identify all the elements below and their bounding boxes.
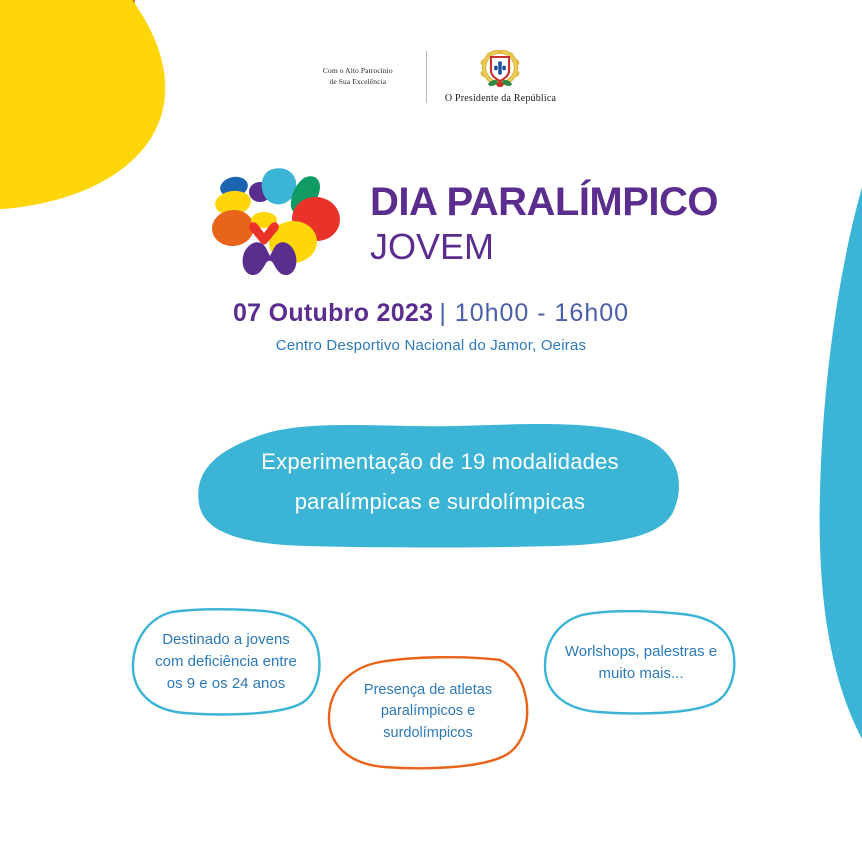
bubble-line-2: com deficiência entre — [155, 651, 297, 673]
bubble-line-3: surdolímpicos — [383, 723, 472, 744]
callout-bubble-audience: Destinado a jovens com deficiência entre… — [128, 606, 324, 718]
brand-lockup: DIA PARALÍMPICO JOVEM — [208, 162, 718, 282]
bubble-line-1: Destinado a jovens — [162, 629, 290, 651]
highlight-banner: Experimentação de 19 modalidades paralím… — [196, 412, 684, 552]
dia-paralimpico-jovem-logo-icon — [208, 162, 348, 282]
patronage-line-2: de Sua Excelência — [306, 77, 410, 88]
bubble-line-2: muito mais... — [598, 663, 683, 685]
bubble-line-3: os 9 e os 24 anos — [167, 673, 285, 695]
orange-yellow-corner-blobs-icon — [0, 0, 220, 210]
highlight-line-2: paralímpicas e surdolímpicas — [295, 489, 586, 515]
callout-bubble-athletes: Presença de atletas paralímpicos e surdo… — [322, 654, 534, 770]
callout-bubble-workshops-text: Worlshops, palestras e muito mais... — [540, 610, 742, 716]
bubble-line-1: Worlshops, palestras e — [565, 641, 717, 663]
page-subtitle: JOVEM — [370, 226, 718, 267]
callout-bubble-athletes-text: Presença de atletas paralímpicos e surdo… — [322, 654, 534, 770]
highlight-text: Experimentação de 19 modalidades paralím… — [196, 412, 684, 552]
event-datebar: 07 Outubro 2023| 10h00 - 16h00 Centro De… — [0, 300, 862, 354]
portugal-coat-of-arms-icon — [477, 50, 523, 90]
patronage-text: Com o Alto Patrocínio de Sua Excelência — [306, 66, 426, 88]
event-time: | 10h00 - 16h00 — [439, 299, 629, 327]
event-date: 07 Outubro 2023 — [233, 299, 433, 327]
callout-bubble-audience-text: Destinado a jovens com deficiência entre… — [128, 606, 324, 718]
poster-canvas: Com o Alto Patrocínio de Sua Excelência — [0, 0, 862, 862]
bubble-line-2: paralímpicos e — [381, 701, 475, 722]
event-venue: Centro Desportivo Nacional do Jamor, Oei… — [0, 337, 862, 354]
president-label: O Presidente da República — [445, 93, 556, 104]
brand-titles: DIA PARALÍMPICO JOVEM — [370, 176, 718, 267]
bubble-line-1: Presença de atletas — [364, 680, 492, 701]
president-block: O Presidente da República — [427, 50, 556, 104]
page-title: DIA PARALÍMPICO — [370, 182, 718, 222]
cyan-crescent-shape-icon — [742, 90, 862, 810]
patronage-header: Com o Alto Patrocínio de Sua Excelência — [0, 50, 862, 104]
callout-bubble-workshops: Worlshops, palestras e muito mais... — [540, 610, 742, 716]
patronage-line-1: Com o Alto Patrocínio — [306, 66, 410, 77]
highlight-line-1: Experimentação de 19 modalidades — [261, 449, 618, 475]
event-date-line: 07 Outubro 2023| 10h00 - 16h00 — [0, 300, 862, 328]
